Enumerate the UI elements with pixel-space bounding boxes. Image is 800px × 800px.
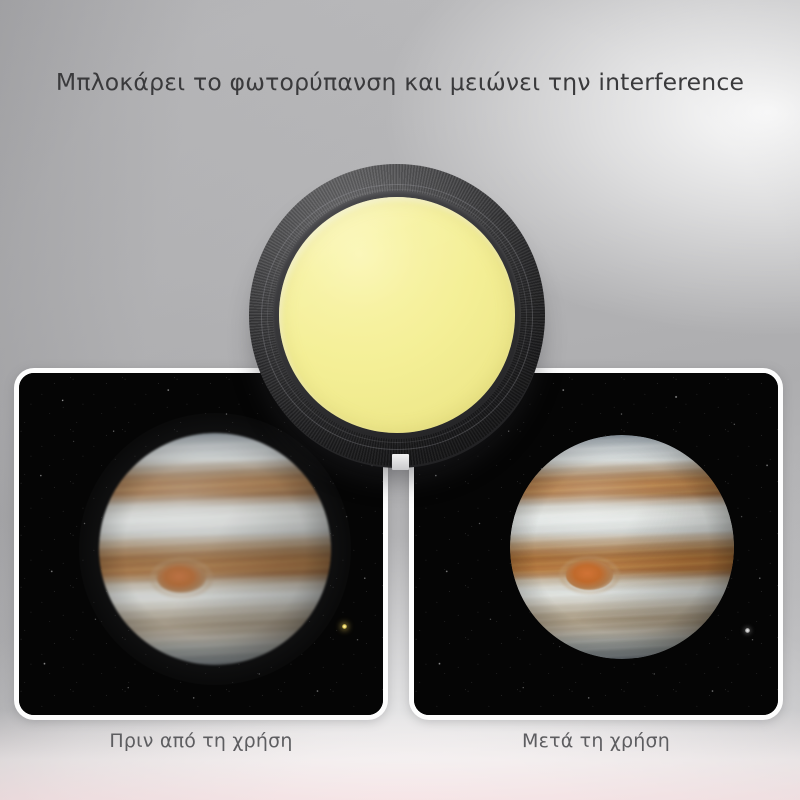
lens-filter-product <box>249 164 545 466</box>
bright-star-icon <box>342 624 347 629</box>
faint-star-icon <box>745 628 750 633</box>
filter-yellow-glass <box>279 197 515 433</box>
jupiter-shading-before <box>99 433 331 665</box>
product-feature-image: Μπλοκάρει το φωτορύπανση και μειώνει την… <box>0 0 800 800</box>
page-title: Μπλοκάρει το φωτορύπανση και μειώνει την… <box>0 68 800 96</box>
jupiter-shading-after <box>510 435 734 659</box>
jupiter-planet-after <box>510 435 734 659</box>
filter-ring-notch <box>392 454 409 470</box>
background-bottom-warm-tint <box>0 710 800 800</box>
caption-after: Μετά τη χρήση <box>409 730 783 752</box>
caption-before: Πριν από τη χρήση <box>14 730 388 752</box>
jupiter-planet-before <box>99 433 331 665</box>
